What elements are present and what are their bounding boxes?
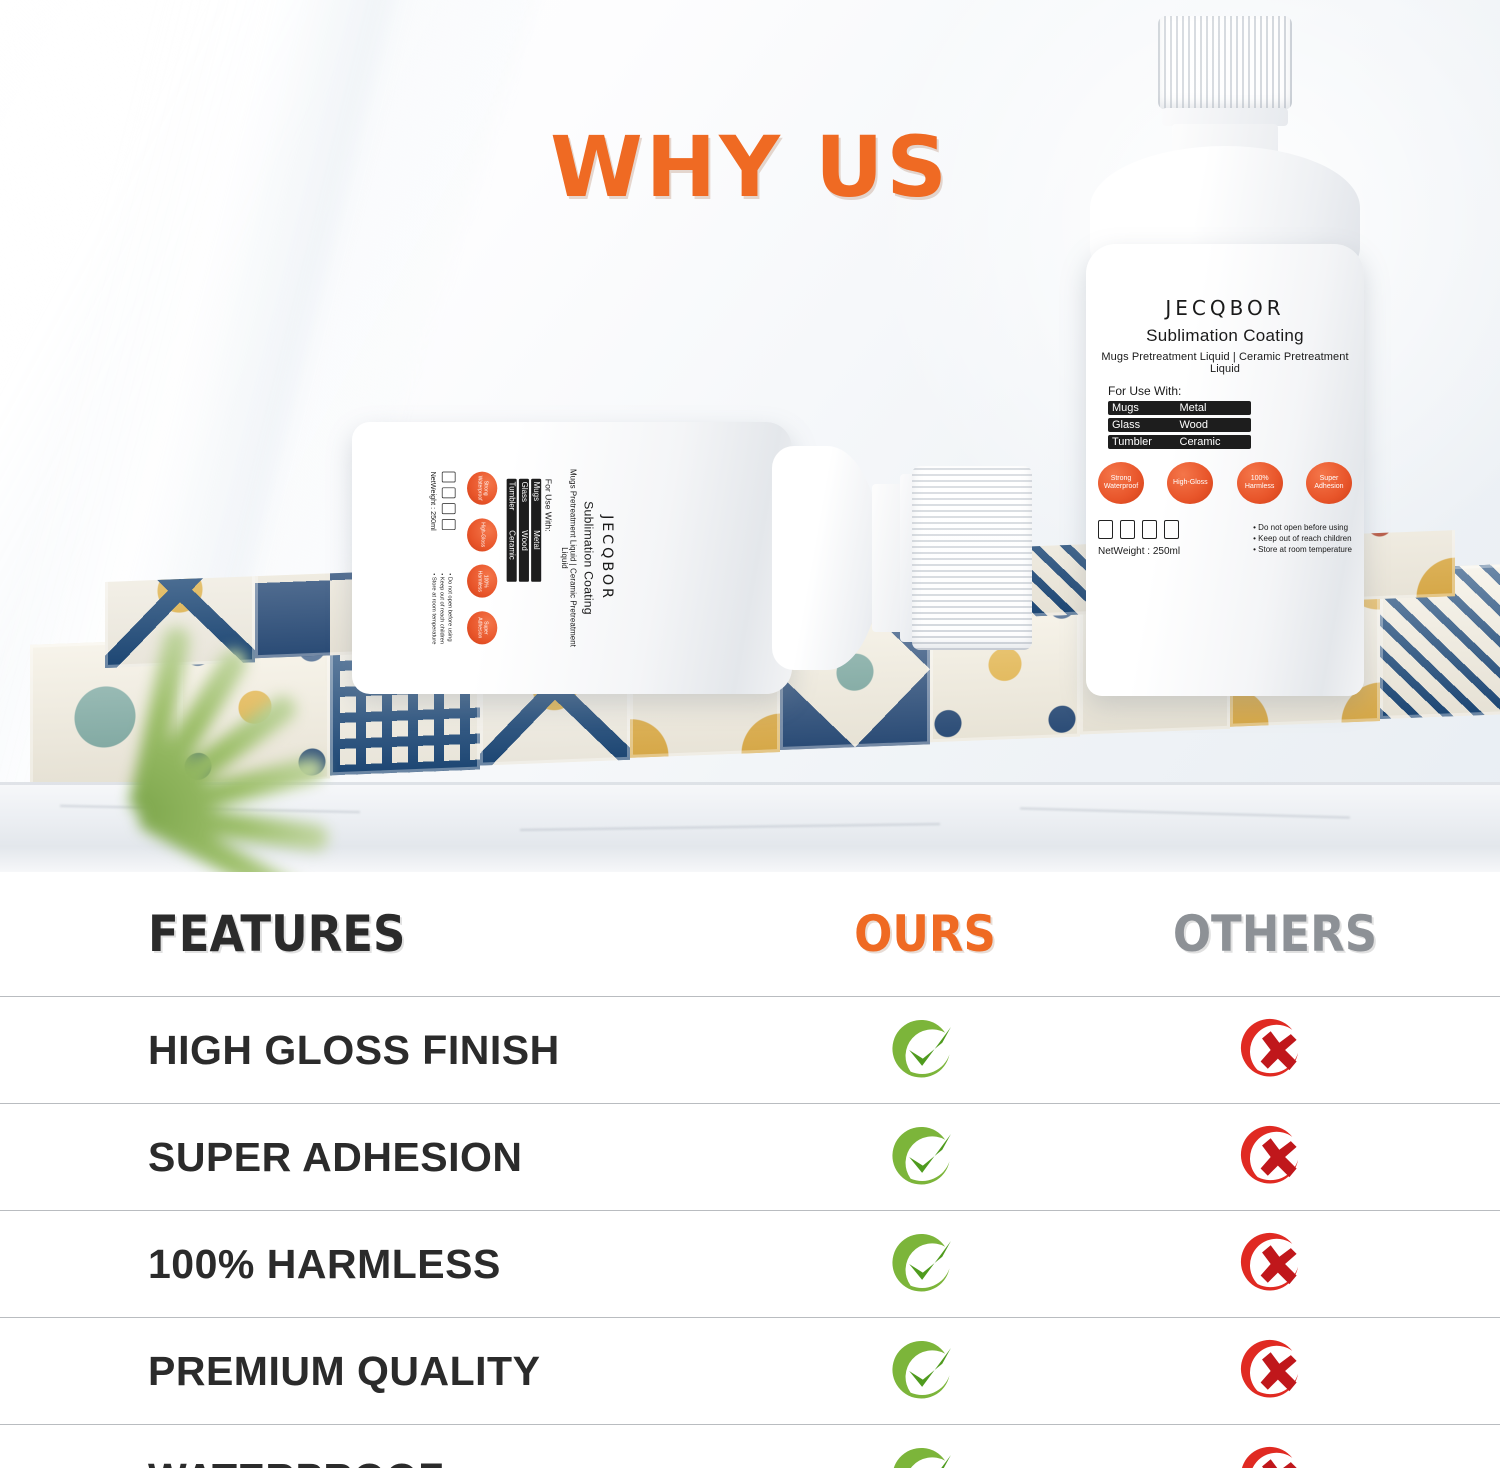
warning-list: Do not open before using Keep out of rea…	[430, 573, 454, 644]
warning-item: Do not open before using	[446, 573, 454, 644]
feature-badge: Super Adhesion	[1306, 462, 1352, 504]
warning-item: Store at room temperature	[430, 573, 438, 644]
feature-badge: 100% Harmless	[467, 565, 497, 598]
cell-ours	[800, 1335, 1050, 1407]
cross-icon	[1239, 1014, 1311, 1086]
cross-icon	[1239, 1228, 1311, 1300]
net-weight: NetWeight : 250ml	[429, 472, 437, 531]
keep-dry-icon	[442, 519, 456, 530]
cell-ours	[800, 1442, 1050, 1468]
cell-others	[1050, 1335, 1500, 1407]
care-icons	[442, 472, 456, 531]
hero-section: WHY US	[0, 0, 1500, 872]
palm-plant	[0, 470, 360, 870]
cross-icon	[1239, 1335, 1311, 1407]
bottle-icon	[1098, 520, 1113, 539]
feature-badge: Strong Waterproof	[467, 472, 497, 505]
umbrella-icon	[1142, 520, 1157, 539]
table-row: PREMIUM QUALITY	[0, 1318, 1500, 1425]
check-icon	[889, 1335, 961, 1407]
material-pill: GlassWood	[1108, 418, 1251, 432]
feature-badge: High-Gloss	[467, 518, 497, 551]
warning-item: Do not open before using	[1253, 522, 1352, 533]
warning-list: Do not open before using Keep out of rea…	[1253, 522, 1352, 555]
column-header-features: FEATURES	[148, 905, 405, 963]
cell-ours	[800, 1121, 1050, 1193]
warning-item: Keep out of reach children	[1253, 533, 1352, 544]
table-row: SUPER ADHESION	[0, 1104, 1500, 1211]
feature-badge: Strong Waterproof	[1098, 462, 1144, 504]
feature-badge: 100% Harmless	[1237, 462, 1283, 504]
material-pill: MugsMetal	[531, 479, 541, 582]
product-subtitle: Mugs Pretreatment Liquid | Ceramic Pretr…	[560, 467, 577, 648]
thermometer-icon	[442, 487, 456, 498]
table-header-row: FEATURES OURS OTHERS	[0, 872, 1500, 997]
cell-others	[1050, 1228, 1500, 1300]
cell-others	[1050, 1442, 1500, 1468]
material-pill: MugsMetal	[1108, 401, 1251, 415]
check-icon	[889, 1442, 961, 1468]
bottle-upright: JECQBOR Sublimation Coating Mugs Pretrea…	[1062, 8, 1382, 698]
column-header-others: OTHERS	[1173, 905, 1377, 963]
feature-label: PREMIUM QUALITY	[148, 1348, 540, 1394]
bottle-label-upright: JECQBOR Sublimation Coating Mugs Pretrea…	[1092, 296, 1358, 626]
bottle-lying: JECQBOR Sublimation Coating Mugs Pretrea…	[352, 412, 992, 702]
infographic-page: WHY US	[0, 0, 1500, 1468]
check-icon	[889, 1228, 961, 1300]
table-body: HIGH GLOSS FINISH SUPER ADHESION 100% HA…	[0, 997, 1500, 1468]
bottle-label-lying: JECQBOR Sublimation Coating Mugs Pretrea…	[415, 467, 617, 648]
material-pill: TumblerCeramic	[507, 479, 517, 582]
cross-icon	[1239, 1121, 1311, 1193]
feature-label: WATERPROOF	[148, 1455, 444, 1468]
table-row: 100% HARMLESS	[0, 1211, 1500, 1318]
warning-item: Keep out of reach children	[438, 573, 446, 644]
material-pill: GlassWood	[519, 479, 529, 582]
umbrella-icon	[442, 503, 456, 514]
feature-label: HIGH GLOSS FINISH	[148, 1027, 560, 1073]
product-name: Sublimation Coating	[581, 467, 595, 648]
feature-badges: Strong Waterproof High-Gloss 100% Harmle…	[467, 467, 497, 648]
brand-name: JECQBOR	[1092, 296, 1358, 320]
check-icon	[889, 1121, 961, 1193]
check-icon	[889, 1014, 961, 1086]
feature-badge: Super Adhesion	[467, 611, 497, 644]
thermometer-icon	[1120, 520, 1135, 539]
feature-label: SUPER ADHESION	[148, 1134, 523, 1180]
product-name: Sublimation Coating	[1092, 326, 1358, 346]
care-icons	[1098, 520, 1180, 539]
cell-ours	[800, 1228, 1050, 1300]
product-subtitle: Mugs Pretreatment Liquid | Ceramic Pretr…	[1092, 351, 1358, 375]
for-use-with-label: For Use With:	[543, 479, 553, 649]
material-pill: TumblerCeramic	[1108, 435, 1251, 449]
net-weight: NetWeight : 250ml	[1098, 546, 1180, 557]
cell-ours	[800, 1014, 1050, 1086]
feature-label: 100% HARMLESS	[148, 1241, 501, 1287]
warning-item: Store at room temperature	[1253, 544, 1352, 555]
cross-icon	[1239, 1442, 1311, 1468]
feature-badges: Strong Waterproof High-Gloss 100% Harmle…	[1092, 462, 1358, 504]
bottle-cap	[1158, 16, 1292, 110]
table-row: WATERPROOF	[0, 1425, 1500, 1468]
cell-others	[1050, 1121, 1500, 1193]
table-row: HIGH GLOSS FINISH	[0, 997, 1500, 1104]
comparison-table: FEATURES OURS OTHERS HIGH GLOSS FINISH S…	[0, 872, 1500, 1468]
cell-others	[1050, 1014, 1500, 1086]
for-use-with-label: For Use With:	[1108, 384, 1358, 398]
column-header-ours: OURS	[854, 905, 996, 963]
feature-badge: High-Gloss	[1167, 462, 1213, 504]
bottle-icon	[442, 472, 456, 483]
keep-dry-icon	[1164, 520, 1179, 539]
brand-name: JECQBOR	[600, 467, 617, 648]
